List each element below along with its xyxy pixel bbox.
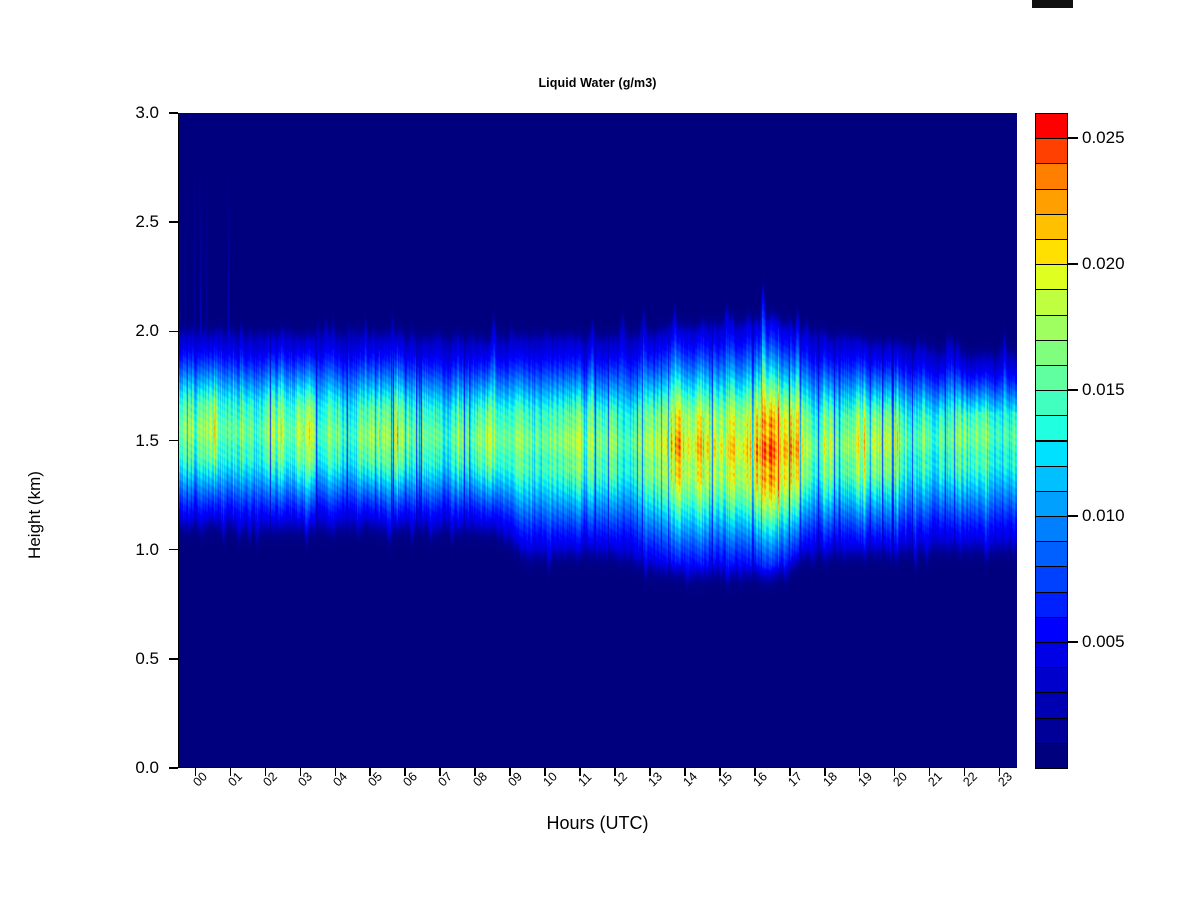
colorbar-segment [1035, 541, 1068, 567]
colorbar-segment [1035, 491, 1068, 517]
y-tick-label: 0.5 [99, 650, 159, 667]
colorbar-segment [1035, 365, 1068, 391]
colorbar-tick-mark [1068, 263, 1078, 265]
colorbar-segment [1035, 340, 1068, 366]
colorbar-tick-label: 0.005 [1082, 633, 1125, 650]
y-tick-mark [169, 440, 178, 442]
colorbar-segment [1035, 239, 1068, 265]
colorbar-segment [1035, 743, 1068, 769]
colorbar-segment [1035, 163, 1068, 189]
colorbar-segment [1035, 617, 1068, 643]
x-axis-title: Hours (UTC) [178, 813, 1017, 834]
colorbar-segment [1035, 642, 1068, 668]
colorbar-segment [1035, 315, 1068, 341]
colorbar-segment [1035, 113, 1068, 139]
colorbar-segment [1035, 516, 1068, 542]
y-tick-label: 2.0 [99, 322, 159, 339]
colorbar-tick-label: 0.015 [1082, 381, 1125, 398]
y-tick-label: 1.5 [99, 432, 159, 449]
y-tick-mark [169, 767, 178, 769]
y-tick-label: 2.5 [99, 213, 159, 230]
colorbar-tick-mark [1068, 389, 1078, 391]
y-tick-mark [169, 549, 178, 551]
colorbar-segment [1035, 692, 1068, 718]
colorbar-tick-label: 0.010 [1082, 507, 1125, 524]
y-tick-mark [169, 112, 178, 114]
colorbar-tick-label: 0.020 [1082, 255, 1125, 272]
colorbar-segment [1035, 441, 1068, 467]
colorbar-segment [1035, 390, 1068, 416]
y-tick-label: 3.0 [99, 104, 159, 121]
heatmap-canvas [178, 113, 1017, 768]
colorbar-tick-mark [1068, 137, 1078, 139]
colorbar-tick-label: 0.025 [1082, 129, 1125, 146]
y-axis-title: Height (km) [25, 420, 45, 610]
y-tick-mark [169, 331, 178, 333]
colorbar-segment [1035, 189, 1068, 215]
colorbar-segment [1035, 415, 1068, 441]
top-edge-artifact [1032, 0, 1073, 8]
colorbar-tick-mark [1068, 641, 1078, 643]
y-tick-label: 0.0 [99, 759, 159, 776]
y-tick-label: 1.0 [99, 541, 159, 558]
colorbar-segment [1035, 466, 1068, 492]
colorbar-segment [1035, 264, 1068, 290]
y-tick-mark [169, 658, 178, 660]
heatmap-plot-area [178, 113, 1017, 768]
colorbar-segment [1035, 138, 1068, 164]
colorbar-segment [1035, 592, 1068, 618]
colorbar-segment [1035, 214, 1068, 240]
colorbar-segment [1035, 718, 1068, 744]
colorbar-segment [1035, 289, 1068, 315]
chart-figure: Liquid Water (g/m3) 0.00.51.01.52.02.53.… [0, 0, 1200, 900]
colorbar-tick-mark [1068, 515, 1078, 517]
y-tick-mark [169, 221, 178, 223]
colorbar-segment [1035, 667, 1068, 693]
colorbar-segment [1035, 566, 1068, 592]
chart-title: Liquid Water (g/m3) [178, 76, 1017, 90]
colorbar [1035, 113, 1068, 768]
